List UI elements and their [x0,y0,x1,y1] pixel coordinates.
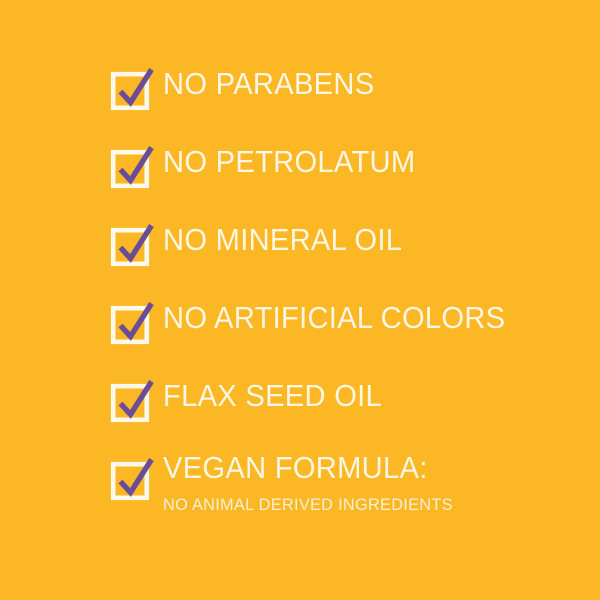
list-item-label: NO MINERAL OIL [163,225,402,256]
list-item-text: FLAX SEED OIL [163,374,583,418]
list-item-label: VEGAN FORMULA: [163,453,428,484]
list-item-label: NO ARTIFICIAL COLORS [163,303,505,334]
list-item-text: NO ARTIFICIAL COLORS [163,296,583,340]
list-item: FLAX SEED OIL [110,374,580,452]
checked-checkbox-icon [110,374,162,426]
list-item-label: NO PARABENS [163,69,374,100]
checked-checkbox-icon [110,62,162,114]
list-item: NO PARABENS [110,62,580,140]
list-item: NO MINERAL OIL [110,218,580,296]
checked-checkbox-icon [110,452,162,504]
list-item-sublabel: NO ANIMAL DERIVED INGREDIENTS [163,496,453,513]
claims-checklist: NO PARABENS NO PETROLATUM NO MINERAL OIL [110,62,580,530]
product-claims-poster: NO PARABENS NO PETROLATUM NO MINERAL OIL [0,0,600,600]
list-item-label: NO PETROLATUM [163,147,415,178]
list-item: VEGAN FORMULA: NO ANIMAL DERIVED INGREDI… [110,452,580,530]
list-item-label: FLAX SEED OIL [163,381,382,412]
list-item: NO PETROLATUM [110,140,580,218]
list-item-text: VEGAN FORMULA: [163,452,583,497]
list-item-text: NO PETROLATUM [163,140,583,184]
list-item-text: NO PARABENS [163,62,583,106]
list-item: NO ARTIFICIAL COLORS [110,296,580,374]
checked-checkbox-icon [110,140,162,192]
checked-checkbox-icon [110,218,162,270]
checked-checkbox-icon [110,296,162,348]
list-item-text: NO MINERAL OIL [163,218,583,262]
